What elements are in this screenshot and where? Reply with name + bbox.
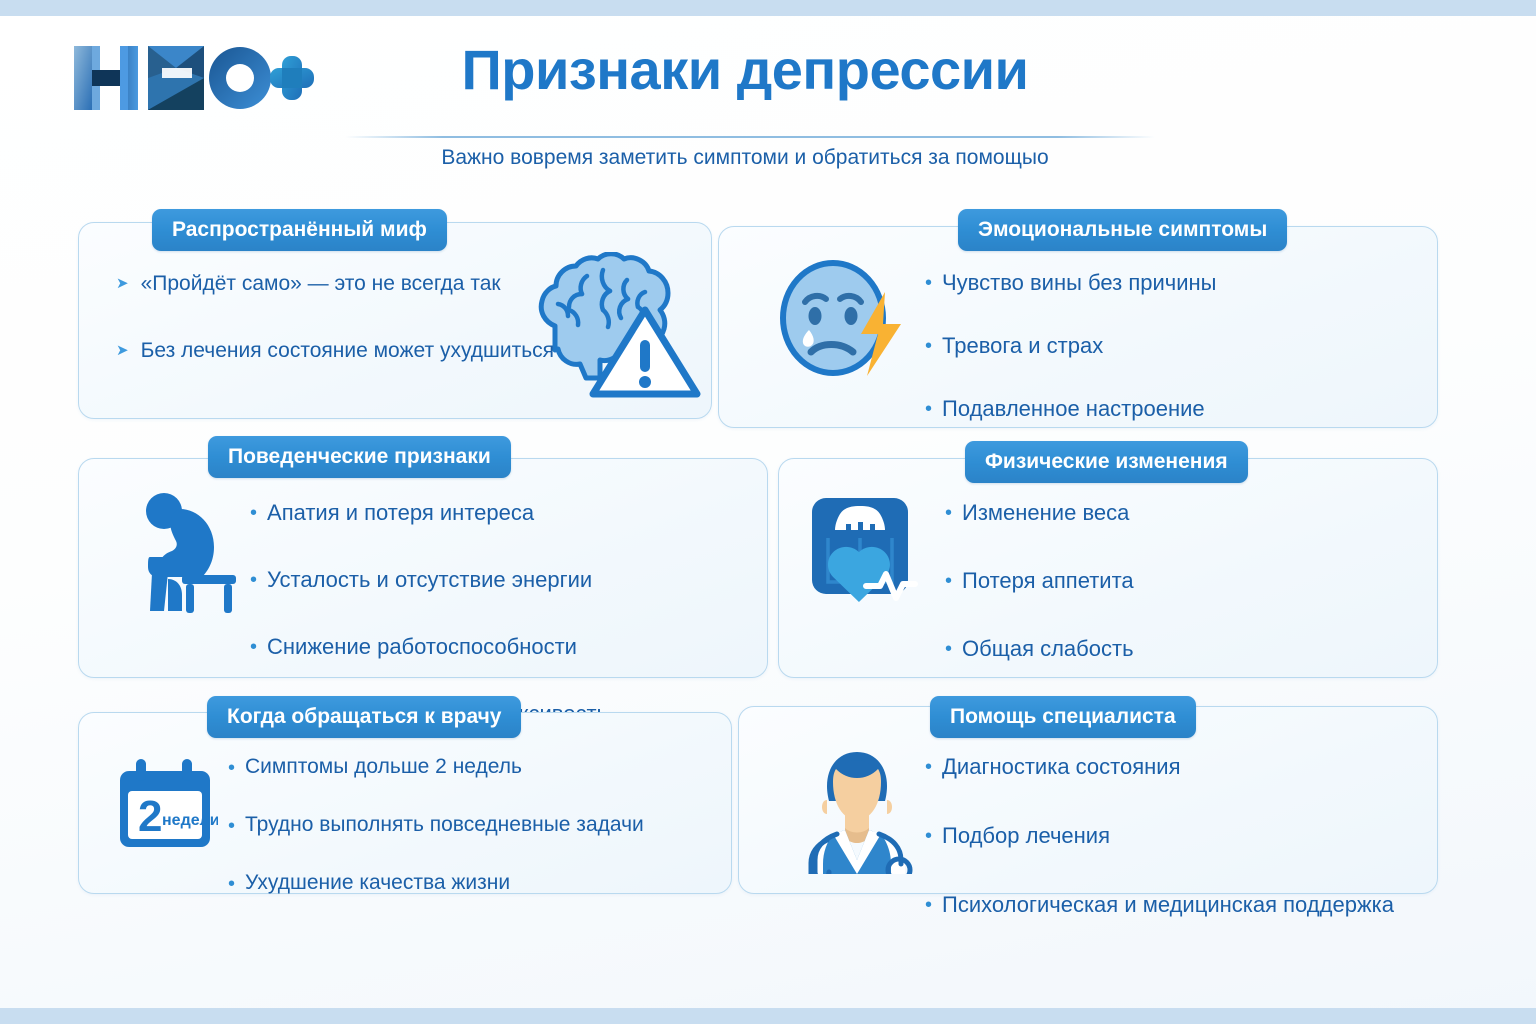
list-item: • Симптомы дольше 2 недель bbox=[228, 755, 644, 779]
bullet-list-when-to-see-doctor: • Симптомы дольше 2 недель • Трудно выпо… bbox=[228, 755, 644, 895]
card-title-when-to-see-doctor: Когда обращаться к врачу bbox=[207, 696, 521, 738]
list-item-label: Подбор лечения bbox=[942, 823, 1110, 849]
arrow-bullet-icon: ➤ bbox=[116, 276, 129, 291]
list-item: • Подбор лечения bbox=[925, 823, 1394, 849]
dot-bullet-icon: • bbox=[250, 570, 257, 590]
header: Признаки депрессии Важно вовремя заметит… bbox=[0, 16, 1536, 176]
brand-logo bbox=[70, 38, 315, 118]
arrow-bullet-icon: ➤ bbox=[116, 343, 129, 358]
card-title-specialist-help: Помощь специалиста bbox=[930, 696, 1196, 738]
sitting-person-icon bbox=[128, 487, 246, 615]
card-title-emotional-symptoms: Эмоциональные симптомы bbox=[958, 209, 1287, 251]
list-item: ➤ Без лечения состояние может ухудшиться bbox=[116, 339, 554, 363]
dot-bullet-icon: • bbox=[945, 503, 952, 523]
list-item-label: Диагностика состояния bbox=[942, 754, 1180, 780]
card-title-behavioural-signs: Поведенческие признаки bbox=[208, 436, 511, 478]
list-item-label: Изменение веса bbox=[962, 500, 1129, 526]
calendar-two-weeks-icon: 2 недели bbox=[112, 757, 218, 853]
title-divider bbox=[345, 136, 1155, 138]
bottom-decorative-band bbox=[0, 1008, 1536, 1024]
bullet-list-physical-changes: • Изменение веса • Потеря аппетита • Общ… bbox=[945, 500, 1134, 662]
dot-bullet-icon: • bbox=[925, 895, 932, 915]
list-item-label: Усталость и отсутствие энергии bbox=[267, 567, 592, 593]
list-item-label: Психологическая и медицинская поддержка bbox=[942, 892, 1394, 918]
list-item-label: Чувство вины без причины bbox=[942, 270, 1216, 296]
dot-bullet-icon: • bbox=[925, 273, 932, 293]
list-item: • Подавленное настроение bbox=[925, 396, 1217, 422]
scale-heartbeat-icon bbox=[808, 492, 942, 614]
dot-bullet-icon: • bbox=[228, 816, 235, 836]
bullet-list-specialist-help: • Диагностика состояния • Подбор лечения… bbox=[925, 754, 1394, 918]
list-item-label: Снижение работоспособности bbox=[267, 634, 577, 660]
brain-warning-icon bbox=[525, 252, 705, 400]
list-item: • Тревога и страх bbox=[925, 333, 1217, 359]
list-item: • Чувство вины без причины bbox=[925, 270, 1217, 296]
list-item: • Диагностика состояния bbox=[925, 754, 1394, 780]
card-title-common-myth: Распространённый миф bbox=[152, 209, 447, 251]
bullet-list-common-myth: ➤ «Пройдёт само» — это не всегда так ➤ Б… bbox=[116, 272, 554, 363]
list-item-label: Без лечения состояние может ухудшиться bbox=[141, 339, 554, 363]
list-item: • Усталость и отсутствие энергии bbox=[250, 567, 608, 593]
list-item-label: Трудно выполнять повседневные задачи bbox=[245, 813, 644, 837]
dot-bullet-icon: • bbox=[925, 336, 932, 356]
sad-face-lightning-icon bbox=[775, 256, 907, 382]
page-subtitle: Важно вовремя заметить симптоми и обрати… bbox=[340, 146, 1150, 170]
dot-bullet-icon: • bbox=[228, 874, 235, 894]
calendar-number: 2 bbox=[138, 792, 162, 841]
list-item-label: Апатия и потеря интереса bbox=[267, 500, 534, 526]
top-decorative-band bbox=[0, 0, 1536, 16]
list-item-label: Ухудшение качества жизни bbox=[245, 871, 510, 895]
list-item: • Общая слабость bbox=[945, 636, 1134, 662]
list-item-label: Симптомы дольше 2 недель bbox=[245, 755, 522, 779]
list-item-label: Общая слабость bbox=[962, 636, 1134, 662]
list-item: ➤ «Пройдёт само» — это не всегда так bbox=[116, 272, 554, 296]
list-item: • Трудно выполнять повседневные задачи bbox=[228, 813, 644, 837]
infographic-canvas: Признаки депрессии Важно вовремя заметит… bbox=[0, 0, 1536, 1024]
list-item: • Потеря аппетита bbox=[945, 568, 1134, 594]
dot-bullet-icon: • bbox=[250, 637, 257, 657]
dot-bullet-icon: • bbox=[945, 639, 952, 659]
list-item: • Ухудшение качества жизни bbox=[228, 871, 644, 895]
doctor-stethoscope-icon bbox=[783, 742, 929, 874]
list-item: • Апатия и потеря интереса bbox=[250, 500, 608, 526]
list-item-label: Подавленное настроение bbox=[942, 396, 1205, 422]
card-title-physical-changes: Физические изменения bbox=[965, 441, 1248, 483]
dot-bullet-icon: • bbox=[925, 399, 932, 419]
list-item-label: Тревога и страх bbox=[942, 333, 1103, 359]
bullet-list-behavioural-signs: • Апатия и потеря интереса • Усталость и… bbox=[250, 500, 608, 727]
list-item: • Изменение веса bbox=[945, 500, 1134, 526]
dot-bullet-icon: • bbox=[250, 503, 257, 523]
list-item: • Психологическая и медицинская поддержк… bbox=[925, 892, 1394, 918]
list-item-label: «Пройдёт само» — это не всегда так bbox=[141, 272, 501, 296]
page-title: Признаки депрессии bbox=[340, 42, 1150, 98]
list-item-label: Потеря аппетита bbox=[962, 568, 1134, 594]
dot-bullet-icon: • bbox=[945, 571, 952, 591]
list-item: • Снижение работоспособности bbox=[250, 634, 608, 660]
dot-bullet-icon: • bbox=[228, 758, 235, 778]
calendar-caption: недели bbox=[162, 812, 218, 829]
